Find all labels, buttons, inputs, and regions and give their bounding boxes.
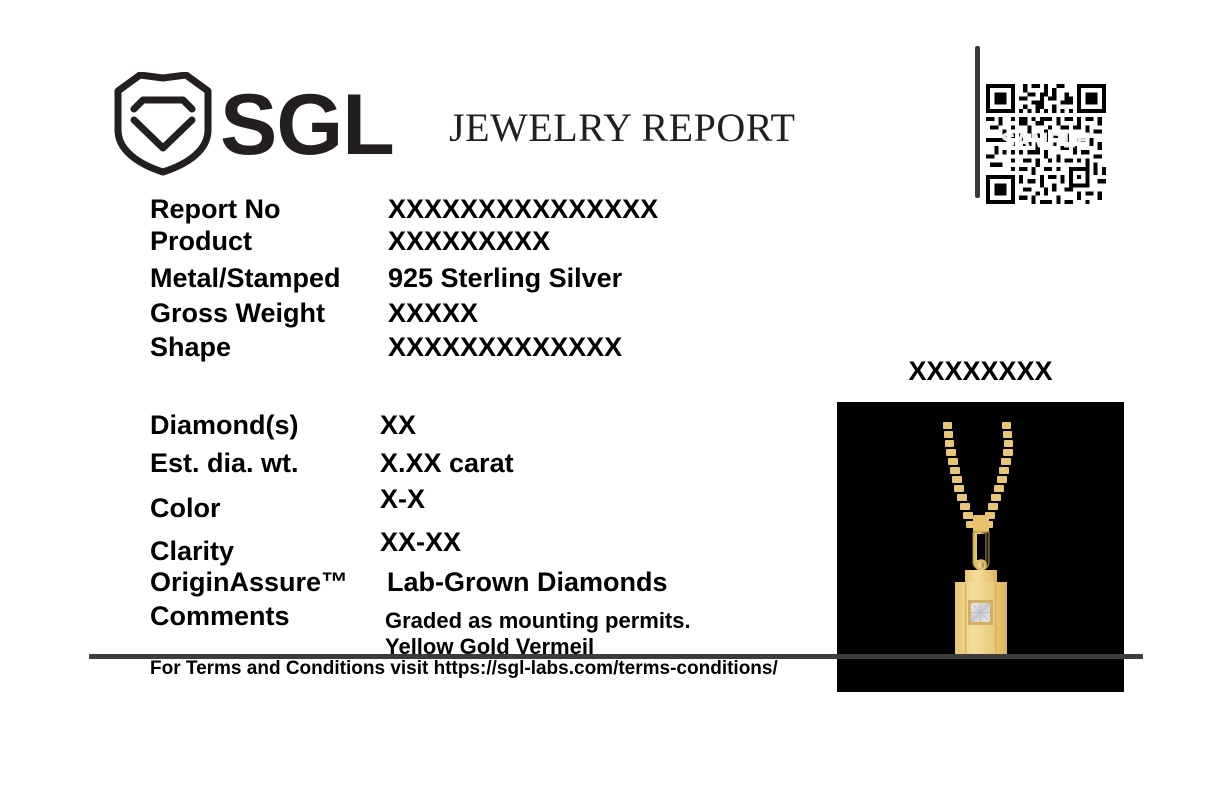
field-value: X-X (380, 486, 425, 513)
field-row-originassure: OriginAssure™ Lab-Grown Diamonds (150, 569, 668, 596)
field-row-comments: Comments Graded as mounting permits. Yel… (150, 603, 691, 657)
field-label: Comments (150, 603, 385, 630)
field-value: X.XX carat (380, 450, 514, 477)
field-label: Shape (150, 334, 388, 361)
jewelry-report-page: SGL JEWELRY REPORT (0, 0, 1224, 786)
field-value: XXXXX (388, 300, 478, 327)
qr-divider-bar (975, 46, 980, 198)
field-row-color: Color X-X (150, 495, 425, 522)
field-value: 925 Sterling Silver (388, 265, 622, 292)
field-row-est-dia-wt: Est. dia. wt. X.XX carat (150, 450, 514, 477)
field-row-product: Product XXXXXXXXX (150, 228, 550, 255)
sgl-logo: SGL (110, 72, 394, 176)
logo-wordmark: SGL (220, 82, 394, 168)
field-label: Clarity (150, 538, 380, 565)
shield-diamond-icon (110, 72, 216, 176)
field-label: Gross Weight (150, 300, 388, 327)
product-photo (837, 402, 1124, 692)
field-value: XXXXXXXXX (388, 228, 550, 255)
field-label: Report No (150, 196, 388, 223)
field-row-gross-weight: Gross Weight XXXXX (150, 300, 478, 327)
footer-terms-note: For Terms and Conditions visit https://s… (150, 659, 778, 678)
field-value: XXXXXXXXXXXXXXX (388, 196, 658, 223)
field-label: Color (150, 495, 380, 522)
field-value: Lab-Grown Diamonds (387, 569, 668, 596)
field-label: Metal/Stamped (150, 265, 388, 292)
field-row-shape: Shape XXXXXXXXXXXXX (150, 334, 622, 361)
field-row-report-no: Report No XXXXXXXXXXXXXXX (150, 196, 658, 223)
field-row-diamonds: Diamond(s) XX (150, 412, 416, 439)
field-value: XX (380, 412, 416, 439)
pendant-necklace-image (837, 402, 1124, 692)
field-label: Diamond(s) (150, 412, 380, 439)
field-value: XX-XX (380, 529, 461, 556)
field-value: Graded as mounting permits. Yellow Gold … (385, 608, 691, 660)
qr-block: SAMPLE (975, 46, 1145, 206)
page-title: JEWELRY REPORT (449, 104, 795, 151)
field-label: OriginAssure™ (150, 569, 387, 596)
field-row-metal-stamped: Metal/Stamped 925 Sterling Silver (150, 265, 622, 292)
field-value: XXXXXXXXXXXXX (388, 334, 622, 361)
field-label: Est. dia. wt. (150, 450, 380, 477)
field-row-clarity: Clarity XX-XX (150, 538, 461, 565)
field-label: Product (150, 228, 388, 255)
photo-caption: XXXXXXXX (837, 358, 1124, 385)
